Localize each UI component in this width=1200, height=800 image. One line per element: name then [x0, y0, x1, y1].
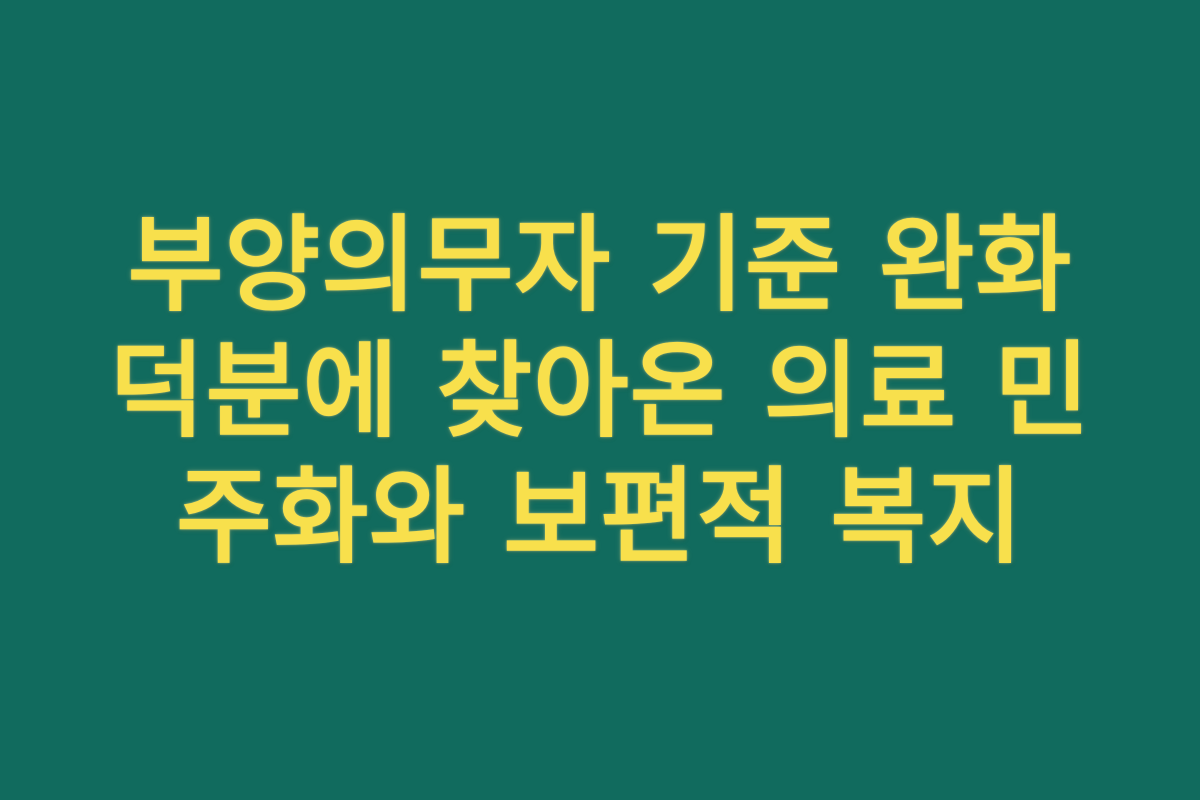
- headline-line-3: 주화와 보편적 복지: [100, 454, 1100, 580]
- headline-line-2: 덕분에 찾아온 의료 민: [100, 328, 1100, 454]
- headline-text-block: 부양의무자 기준 완화 덕분에 찾아온 의료 민 주화와 보편적 복지: [100, 202, 1100, 580]
- headline-card: 부양의무자 기준 완화 덕분에 찾아온 의료 민 주화와 보편적 복지: [0, 0, 1200, 800]
- headline-line-1: 부양의무자 기준 완화: [100, 202, 1100, 328]
